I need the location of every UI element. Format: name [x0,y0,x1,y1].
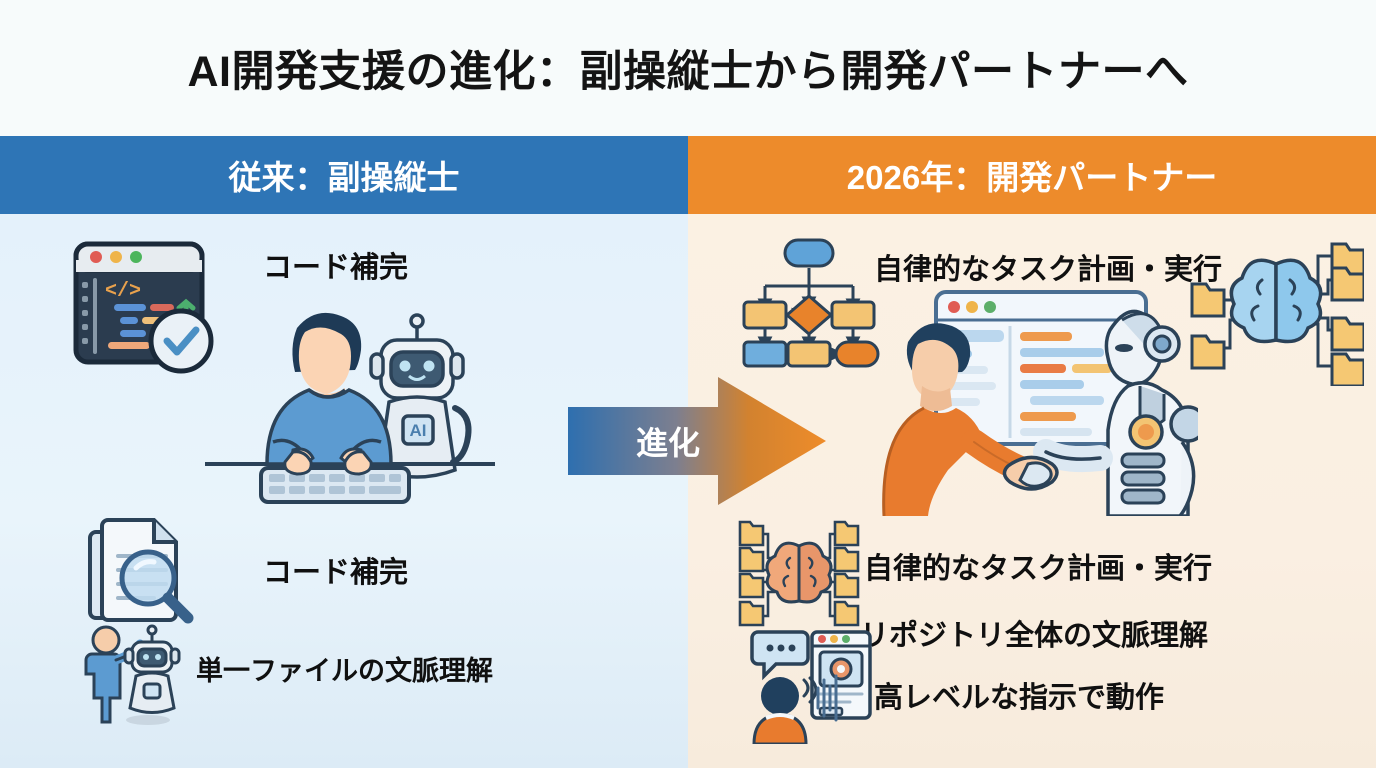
person-robot-icon [70,618,190,730]
evolution-arrow-label: 進化 [568,377,768,505]
right-item-2-label: リポジトリ全体の文脈理解 [860,612,1208,654]
developer-typing-with-robot-illustration: AI [205,292,495,517]
right-column-header: 2026年：開発パートナー [688,136,1376,214]
human-robot-handshake-illustration [878,286,1198,516]
right-item-3-label: 高レベルな指示で動作 [874,674,1164,716]
left-column-header-label: 従来：副操縦士 [229,151,460,199]
left-item-0-label: コード補完 [263,244,408,286]
slide-title-bar: AI開発支援の進化：副操縦士から開発パートナーへ [0,0,1376,136]
page-title: AI開発支援の進化：副操縦士から開発パートナーへ [188,37,1189,99]
flowchart-icon [730,228,888,368]
right-item-0-label: 自律的なタスク計画・実行 [874,246,1222,288]
right-item-1-label: 自律的なタスク計画・実行 [864,545,1212,587]
voice-command-icon [750,626,874,744]
slide-root: AI開発支援の進化：副操縦士から開発パートナーへ 従来：副操縦士 2026年：開… [0,0,1376,768]
svg-text:</>: </> [105,280,141,303]
evolution-arrow: 進化 [568,377,826,505]
document-search-icon [82,514,208,634]
brain-network-icon [1188,228,1364,386]
left-item-2-label: 単一ファイルの文脈理解 [196,649,493,688]
brain-folders-icon [738,520,860,632]
left-item-1-label: コード補完 [263,549,408,591]
code-window-check-icon: </> [62,230,222,380]
right-column-header-label: 2026年：開発パートナー [847,151,1217,199]
left-column-header: 従来：副操縦士 [0,136,688,214]
svg-text:AI: AI [410,421,427,440]
